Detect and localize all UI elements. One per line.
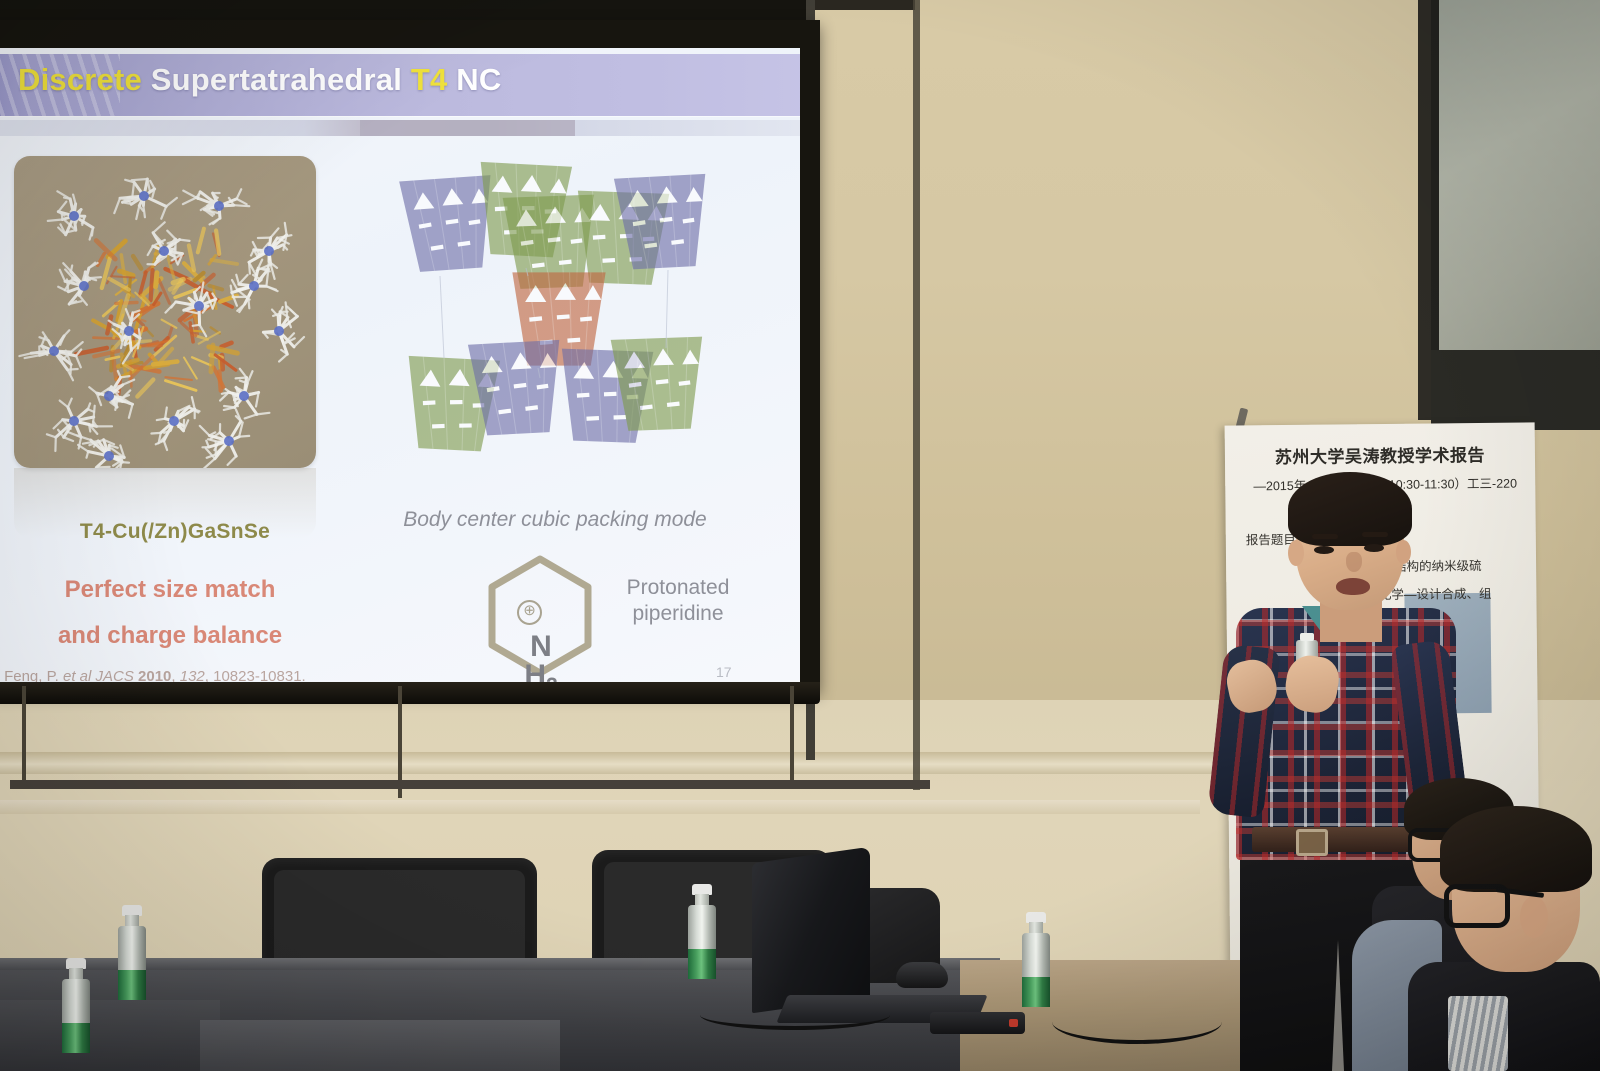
screen-support-cord [790,686,794,786]
audience-front-striped-shirt [1448,996,1508,1071]
speaker-belt [1252,827,1418,852]
molecular-structure-image [14,156,316,468]
presentation-slide: Discrete Supertatrahedral T4 NC T4-Cu(/Z… [0,48,800,688]
wall-trim-band-secondary [0,800,1200,814]
citation-year: 2010 [138,668,171,685]
statement-line-1: Perfect size match [0,576,340,604]
citation-sep: , [171,668,179,685]
statement-line-2: and charge balance [0,622,340,650]
wall-joint-strip [913,0,920,790]
citation-pages: , 10823-10831. [205,668,306,685]
slide-page-number: 17 [716,664,732,680]
bottle-label [688,949,716,979]
speaker-belt-buckle [1296,829,1328,856]
audience-front-ear [1520,896,1548,938]
remote-power-button[interactable] [1009,1019,1018,1027]
bottle-body [1022,933,1050,1005]
bottle-label [1022,977,1050,1007]
slide-title-word-discrete: Discrete [18,62,151,97]
citation-journal: et al JACS [63,668,138,685]
slide-title-word-supertatrahedral: Supertatrahedral [151,62,411,97]
packing-mode-caption: Body center cubic packing mode [390,508,720,532]
wall-trim-band [0,752,1240,774]
slide-title-word-nc: NC [456,62,501,97]
whiteboard-ledge [10,780,930,789]
gray-wall-panel [1431,0,1600,368]
cluster-connector-lines [378,158,738,478]
bottle-body [688,905,716,977]
lecture-room-photo: Discrete Supertatrahedral T4 NC T4-Cu(/Z… [0,0,1600,1071]
speaker-nose [1346,552,1362,572]
citation-volume: 132 [180,668,205,685]
protonated-piperidine-label: Protonated piperidine [598,575,758,628]
wall-joint-strip [1418,0,1431,420]
cable [700,1000,890,1030]
remote-control[interactable] [930,1012,1025,1034]
slide-citation: , T.; Feng, P. et al JACS 2010, 132, 108… [0,668,396,685]
positive-charge-icon: ⊕ [517,600,542,625]
speaker-mouth [1336,578,1370,595]
audience-front-hair [1440,806,1592,892]
table-surface-front [200,1020,560,1071]
held-bottle-cap [1300,633,1314,641]
banner-underline-accent [360,120,575,136]
cable [1052,1000,1222,1044]
formula-subscript: 2 [546,674,558,689]
speaker-right-eye [1364,544,1384,552]
speaker-right-ear [1396,540,1411,564]
protonated-line-2: piperidine [632,602,723,625]
formula-hydrogen: H [524,659,546,689]
gray-wall-panel-shadow [1431,350,1600,430]
protonated-line-1: Protonated [627,576,730,599]
bottle-label [62,1023,90,1053]
bottle-label [118,970,146,1000]
ceiling-shadow-strip-right [810,0,915,10]
laptop[interactable] [752,847,870,1014]
compound-label: T4-Cu(/Zn)GaSnSe [10,520,340,544]
screen-support-cord [22,686,26,786]
table-surface-left [0,1000,220,1071]
bottle-body [118,926,146,998]
slide-title: Discrete Supertatrahedral T4 NC [18,62,798,98]
speaker-hair [1288,472,1412,546]
bottle-body [62,979,90,1051]
speaker-left-ear [1288,540,1304,566]
speaker-left-eye [1314,546,1334,554]
citation-prefix: , T.; Feng, P. [0,668,63,685]
computer-mouse[interactable] [896,962,948,988]
banner-title: 苏州大学吴涛教授学术报告 [1225,440,1535,468]
speaker-left-eyebrow [1312,534,1338,539]
slide-title-word-t4: T4 [411,62,456,97]
amine-formula: N H2 [486,633,596,688]
speaker-right-eyebrow [1362,532,1388,537]
bcc-packing-diagram [378,158,738,478]
projection-screen-frame: Discrete Supertatrahedral T4 NC T4-Cu(/Z… [0,20,820,690]
